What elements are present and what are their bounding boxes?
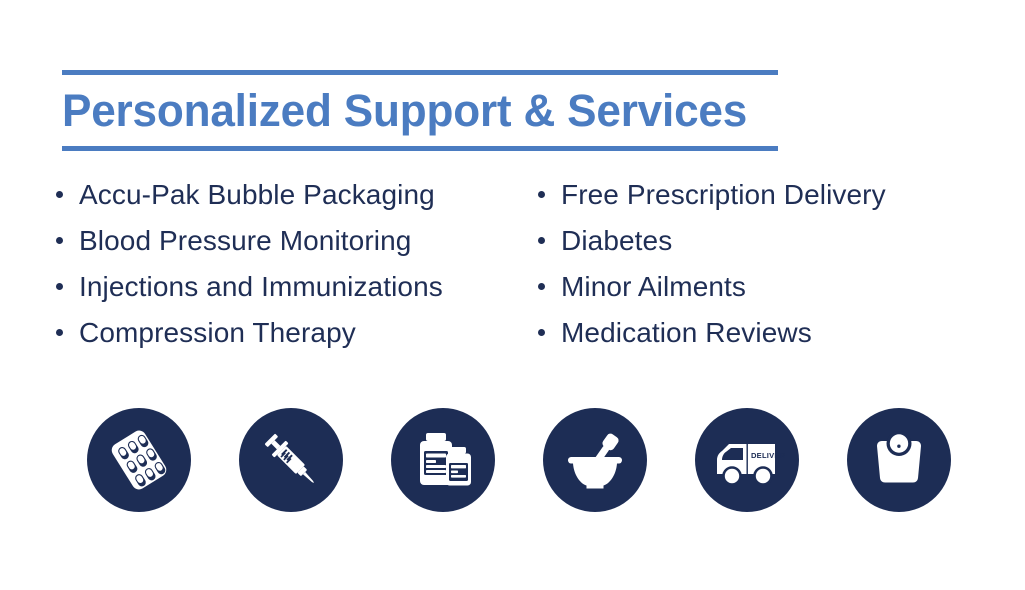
bullet-dot-icon — [538, 191, 545, 198]
list-item: Accu-Pak Bubble Packaging — [56, 178, 443, 224]
delivery-van-icon: DELIVERY — [709, 422, 785, 498]
bullet-dot-icon — [56, 283, 63, 290]
title-rule-top — [62, 70, 778, 75]
list-item: Injections and Immunizations — [56, 270, 443, 316]
service-icon-row: DELIVERY — [0, 408, 1025, 518]
blister-pack-icon — [103, 424, 175, 496]
bullet-dot-icon — [56, 191, 63, 198]
list-item: Compression Therapy — [56, 316, 443, 362]
list-item-label: Medication Reviews — [561, 316, 812, 350]
list-item-label: Compression Therapy — [79, 316, 356, 350]
icon-badge-pill-bottles — [391, 408, 495, 512]
list-item: Diabetes — [538, 224, 886, 270]
list-item: Blood Pressure Monitoring — [56, 224, 443, 270]
slide-canvas: Personalized Support & Services Accu-Pak… — [0, 0, 1025, 590]
icon-badge-blister-pack — [87, 408, 191, 512]
bullet-dot-icon — [538, 283, 545, 290]
mortar-pestle-icon — [559, 424, 631, 496]
bullet-dot-icon — [56, 329, 63, 336]
icon-badge-delivery-van: DELIVERY — [695, 408, 799, 512]
icon-badge-mortar-pestle — [543, 408, 647, 512]
page-title: Personalized Support & Services — [62, 78, 764, 144]
list-item-label: Free Prescription Delivery — [561, 178, 886, 212]
list-item-label: Accu-Pak Bubble Packaging — [79, 178, 435, 212]
bullet-dot-icon — [538, 237, 545, 244]
syringe-icon — [255, 424, 327, 496]
bullet-dot-icon — [538, 329, 545, 336]
title-block: Personalized Support & Services — [62, 70, 778, 151]
weight-scale-icon — [863, 424, 935, 496]
list-item-label: Injections and Immunizations — [79, 270, 443, 304]
icon-badge-syringe — [239, 408, 343, 512]
icon-badge-weight-scale — [847, 408, 951, 512]
services-left-column: Accu-Pak Bubble Packaging Blood Pressure… — [56, 178, 443, 362]
list-item: Medication Reviews — [538, 316, 886, 362]
list-item: Free Prescription Delivery — [538, 178, 886, 224]
title-rule-bottom — [62, 146, 778, 151]
list-item-label: Diabetes — [561, 224, 672, 258]
bullet-dot-icon — [56, 237, 63, 244]
list-item-label: Minor Ailments — [561, 270, 746, 304]
van-delivery-label: DELIVERY — [751, 451, 785, 460]
pill-bottles-icon — [408, 425, 478, 495]
list-item-label: Blood Pressure Monitoring — [79, 224, 411, 258]
services-right-column: Free Prescription Delivery Diabetes Mino… — [538, 178, 886, 362]
list-item: Minor Ailments — [538, 270, 886, 316]
